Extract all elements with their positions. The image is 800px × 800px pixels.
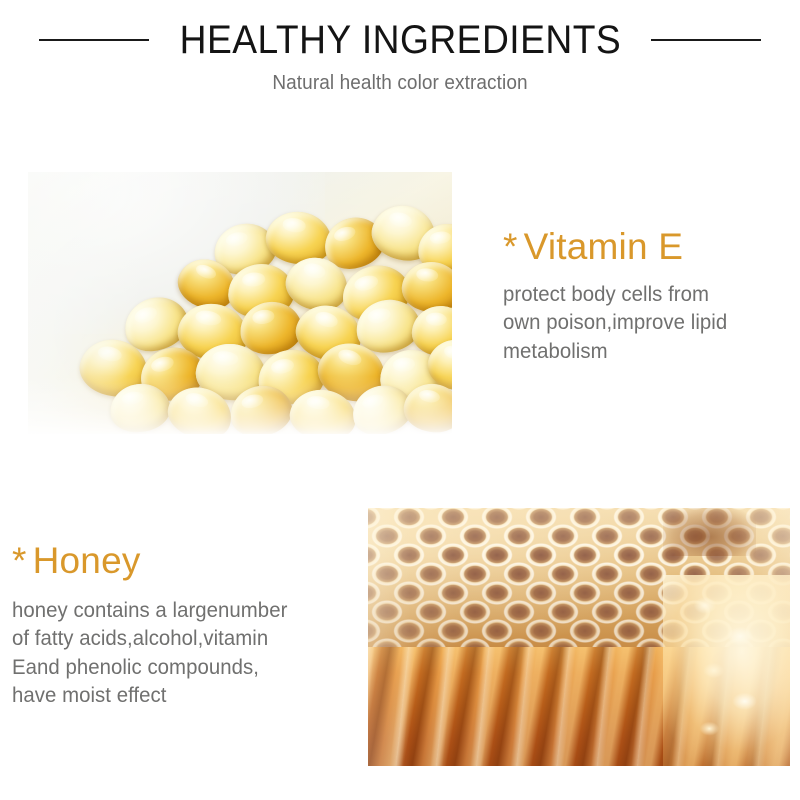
page-subtitle: Natural health color extraction: [20, 72, 780, 95]
capsule-pile: [28, 172, 452, 434]
honey-line-4: have moist effect: [12, 682, 352, 710]
vitamin-e-line-2: own poison,improve lipid: [503, 309, 784, 337]
honey-image: [368, 508, 790, 766]
honey-text-block: *Honey honey contains a largenumber of f…: [12, 542, 362, 710]
title-rule-left: [39, 39, 149, 41]
honey-line-2: of fatty acids,alcohol,vitamin: [12, 625, 352, 653]
title-row: HEALTHY INGREDIENTS: [0, 16, 800, 64]
honey-heading: *Honey: [12, 542, 362, 581]
title-rule-right: [651, 39, 761, 41]
honey-line-1: honey contains a largenumber: [12, 597, 352, 625]
vitamin-e-name: Vitamin E: [524, 226, 683, 267]
honey-description: honey contains a largenumber of fatty ac…: [12, 597, 352, 710]
vitamin-e-heading: *Vitamin E: [503, 228, 793, 267]
page-header: HEALTHY INGREDIENTS Natural health color…: [0, 0, 800, 120]
vitamin-e-line-3: metabolism: [503, 338, 784, 366]
asterisk-icon: *: [12, 540, 27, 581]
vitamin-e-text-block: *Vitamin E protect body cells from own p…: [503, 228, 793, 366]
vitamin-e-image: [28, 172, 452, 434]
honeycomb-dark-pocket: [663, 508, 756, 556]
honey-line-3: Eand phenolic compounds,: [12, 654, 352, 682]
vitamin-e-line-1: protect body cells from: [503, 281, 784, 309]
poster-page: HEALTHY INGREDIENTS Natural health color…: [0, 0, 800, 800]
honey-name: Honey: [33, 540, 141, 581]
page-title: HEALTHY INGREDIENTS: [179, 20, 621, 60]
asterisk-icon: *: [503, 226, 518, 267]
honeycomb-wax-chunks: [672, 585, 782, 755]
vitamin-e-description: protect body cells from own poison,impro…: [503, 281, 784, 366]
